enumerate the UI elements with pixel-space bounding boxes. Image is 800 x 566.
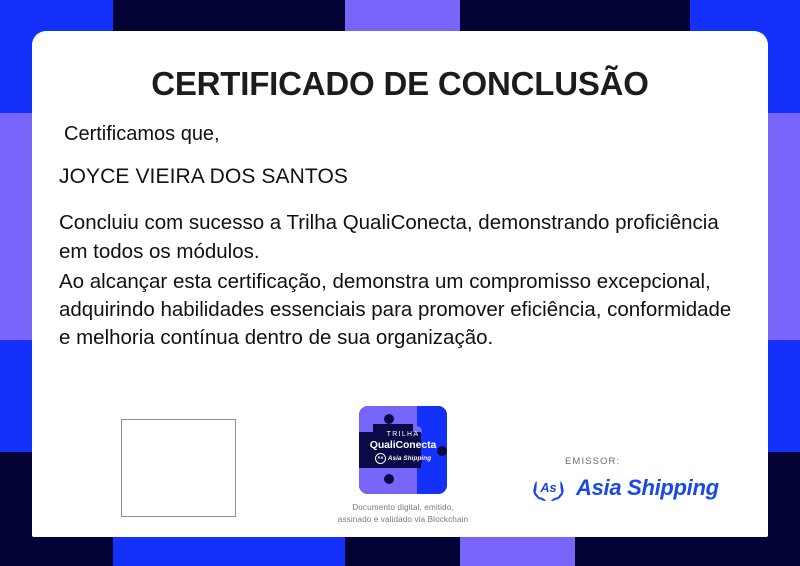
seal-line-trilha: TRILHA [359,431,447,439]
puzzle-seal-icon: TRILHA QualiConecta As Asia Shipping [359,406,447,494]
puzzle-knob-d [384,474,394,484]
svg-text:As: As [539,481,556,495]
issuer-label: EMISSOR: [565,456,750,467]
issuer-brand-row: As Asia Shipping [530,473,750,502]
page-title: CERTIFICADO DE CONCLUSÃO [32,65,768,103]
bg-block-bottom-navy-b [345,537,460,566]
puzzle-knob-a [384,414,394,424]
trilha-seal-block: TRILHA QualiConecta As Asia Shipping Doc… [328,406,478,526]
intro-line: Certificamos que, [64,121,738,148]
blockchain-caption-line-1: Documento digital, emitido, [328,502,478,514]
blockchain-caption: Documento digital, emitido, assinado e v… [328,502,478,526]
seal-line-asia-shipping-row: As Asia Shipping [359,453,447,464]
certificate-body: Certificamos que, JOYCE VIEIRA DOS SANTO… [59,121,738,353]
certificate-page: CERTIFICADO DE CONCLUSÃO Certificamos qu… [0,0,800,566]
qr-code-placeholder [121,419,236,517]
asia-shipping-wordmark: Asia Shipping [576,475,719,501]
seal-line-qualiconecta: QualiConecta [359,439,447,452]
bg-block-bottom-navy-c [575,537,690,566]
achievement-paragraph-2: Ao alcançar esta certificação, demonstra… [59,268,738,353]
bg-block-bottom-periwinkle [460,537,575,566]
blockchain-caption-line-2: assinado e validado via Blockchain [328,514,478,526]
puzzle-piece-5 [417,465,447,494]
recipient-name: JOYCE VIEIRA DOS SANTOS [59,163,738,191]
seal-text-group: TRILHA QualiConecta As Asia Shipping [359,431,447,464]
seal-brand-text: Asia Shipping [388,455,431,463]
achievement-paragraph-1: Concluiu com sucesso a Trilha QualiConec… [59,209,738,266]
seal-monogram-icon: As [375,453,386,464]
issuer-block: EMISSOR: As Asia Shipping [530,456,750,502]
asia-shipping-laurel-icon: As [530,473,567,502]
certificate-card: CERTIFICADO DE CONCLUSÃO Certificamos qu… [32,31,768,537]
bg-block-bottom-blue [113,537,345,566]
